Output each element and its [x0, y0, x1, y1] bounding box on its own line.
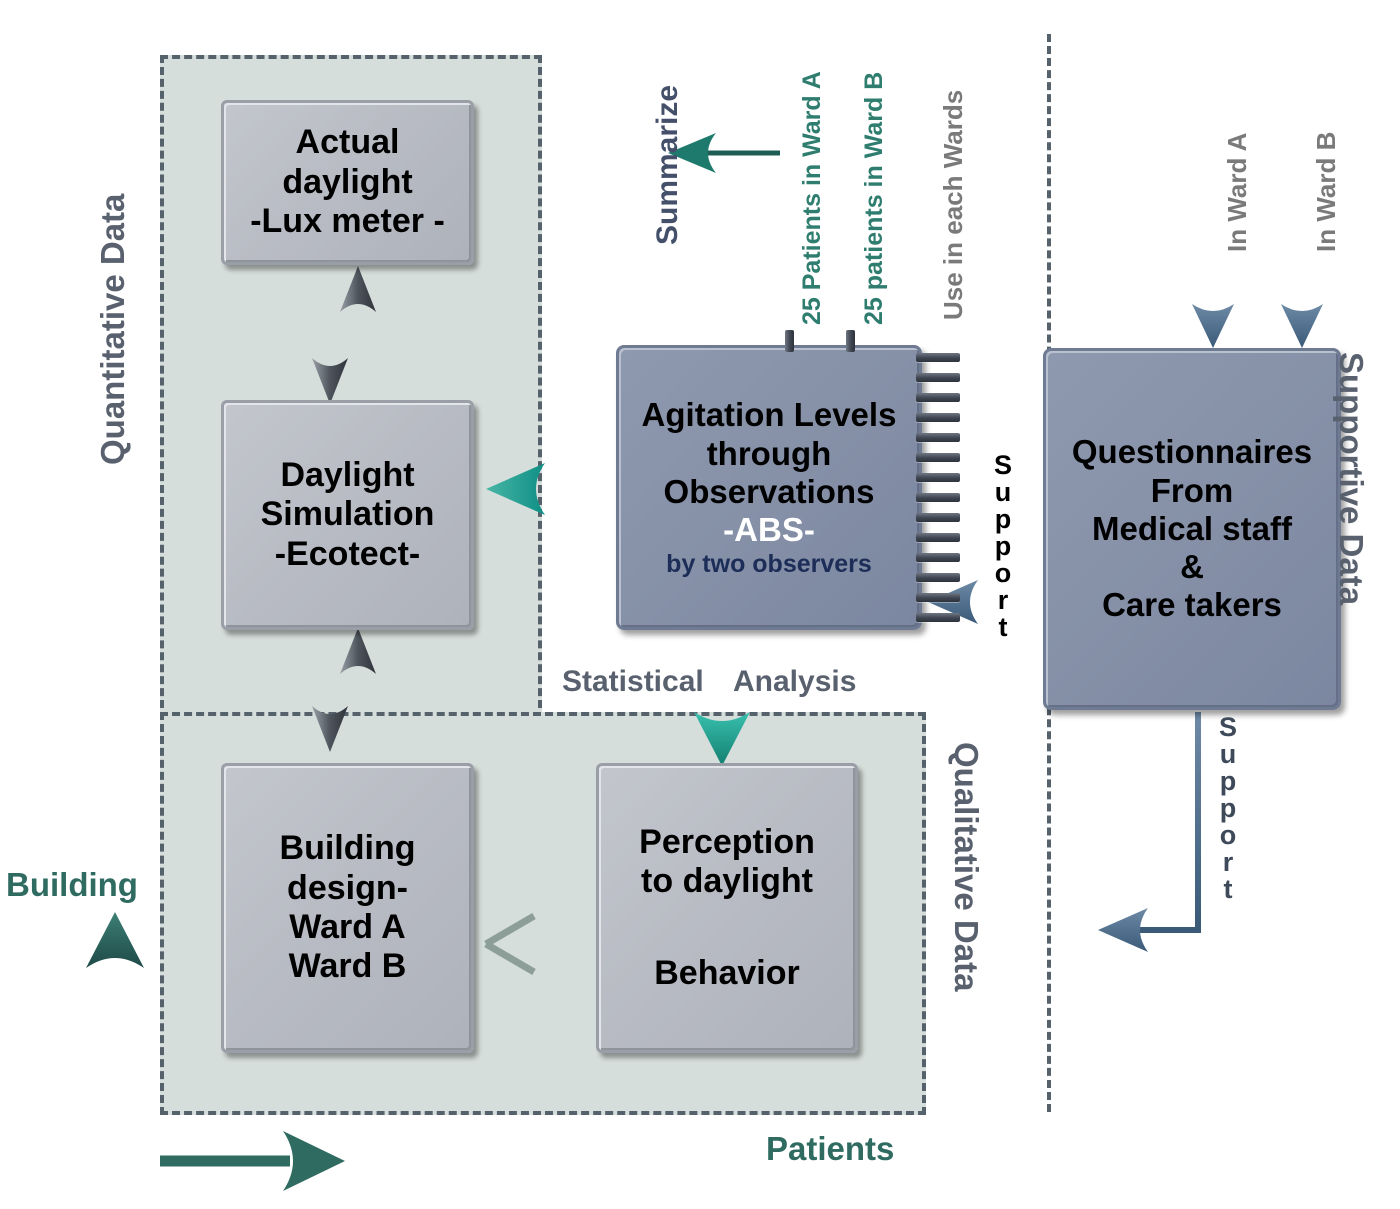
- box-building-design[interactable]: Building design- Ward A Ward B: [221, 763, 474, 1053]
- box-agitation-line1: Agitation Levels: [642, 396, 897, 434]
- arrow-simulation-to-building: [312, 628, 376, 752]
- spiral-binding-icon: [916, 350, 962, 626]
- box-agitation-line2: through: [707, 435, 832, 473]
- box-actual-daylight-line3: -Lux meter -: [250, 202, 445, 241]
- label-support-2: Support Support: [1219, 714, 1237, 903]
- label-qualitative-data: Qualitative Data: [947, 742, 985, 991]
- box-agitation-levels[interactable]: Agitation Levels through Observations -A…: [616, 345, 922, 630]
- box-daylight-simulation-line3: -Ecotect-: [275, 535, 420, 574]
- label-25-patients-ward-a: 25 Patients in Ward A: [798, 71, 827, 325]
- label-quantitative-data: Quantitative Data: [94, 194, 132, 465]
- label-patients-axis: Patients: [766, 1130, 894, 1168]
- box-perception-line1: Perception: [639, 823, 815, 862]
- label-summarize: Summarize: [651, 85, 685, 245]
- box-actual-daylight-line2: daylight: [282, 163, 412, 202]
- box-daylight-simulation-line2: Simulation: [261, 495, 435, 534]
- box-daylight-simulation-line1: Daylight: [280, 456, 414, 495]
- arrow-questionnaires-support-down: [1098, 712, 1198, 952]
- ward-a-stub-icon: [785, 330, 794, 352]
- label-building-axis: Building: [6, 866, 138, 904]
- box-agitation-line3: Observations: [664, 473, 875, 511]
- box-agitation-observers: by two observers: [666, 550, 872, 579]
- arrow-patients-axis: [160, 1131, 345, 1191]
- box-questionnaires-line1: Questionnaires: [1072, 433, 1312, 471]
- box-questionnaires-line2: From: [1151, 472, 1234, 510]
- arrow-in-ward-a: [1192, 264, 1234, 348]
- arrow-in-ward-b: [1281, 264, 1323, 348]
- box-questionnaires[interactable]: Questionnaires From Medical staff & Care…: [1043, 348, 1341, 710]
- box-questionnaires-line4: &: [1180, 548, 1204, 586]
- label-supportive-data: Supportive Data: [1332, 352, 1370, 605]
- box-actual-daylight-line1: Actual: [296, 123, 400, 162]
- label-25-patients-ward-b: 25 patients in Ward B: [860, 72, 889, 325]
- box-questionnaires-line5: Care takers: [1102, 586, 1282, 624]
- label-support-1: Support Support: [994, 452, 1012, 641]
- box-actual-daylight[interactable]: Actual daylight -Lux meter -: [221, 100, 474, 265]
- box-perception[interactable]: Perception to daylight Behavior: [596, 763, 858, 1053]
- box-daylight-simulation[interactable]: Daylight Simulation -Ecotect-: [221, 400, 474, 630]
- box-building-design-line1: Building: [280, 829, 416, 868]
- box-questionnaires-line3: Medical staff: [1092, 510, 1292, 548]
- box-building-design-line3: Ward A: [289, 908, 405, 947]
- box-agitation-abs: -ABS-: [723, 511, 815, 549]
- label-in-ward-b: In Ward B: [1311, 132, 1342, 252]
- diagram-canvas: Actual daylight -Lux meter - Daylight Si…: [0, 0, 1400, 1209]
- arrow-agitation-to-perception: [694, 634, 750, 766]
- box-perception-line3: Behavior: [654, 954, 800, 993]
- label-in-ward-a: In Ward A: [1222, 133, 1253, 252]
- box-perception-line2: to daylight: [641, 862, 813, 901]
- arrow-agitation-to-simulation: [486, 463, 616, 515]
- box-building-design-line2: design-: [287, 869, 408, 908]
- label-statistical: Statistical: [562, 665, 704, 699]
- box-building-design-line4: Ward B: [289, 947, 407, 986]
- arrow-lux-to-simulation: [312, 266, 376, 404]
- label-analysis: Analysis: [733, 665, 856, 699]
- ward-b-stub-icon: [846, 330, 855, 352]
- arrow-building-axis: [86, 912, 144, 1115]
- label-use-in-each-wards: Use in each Wards: [938, 90, 969, 320]
